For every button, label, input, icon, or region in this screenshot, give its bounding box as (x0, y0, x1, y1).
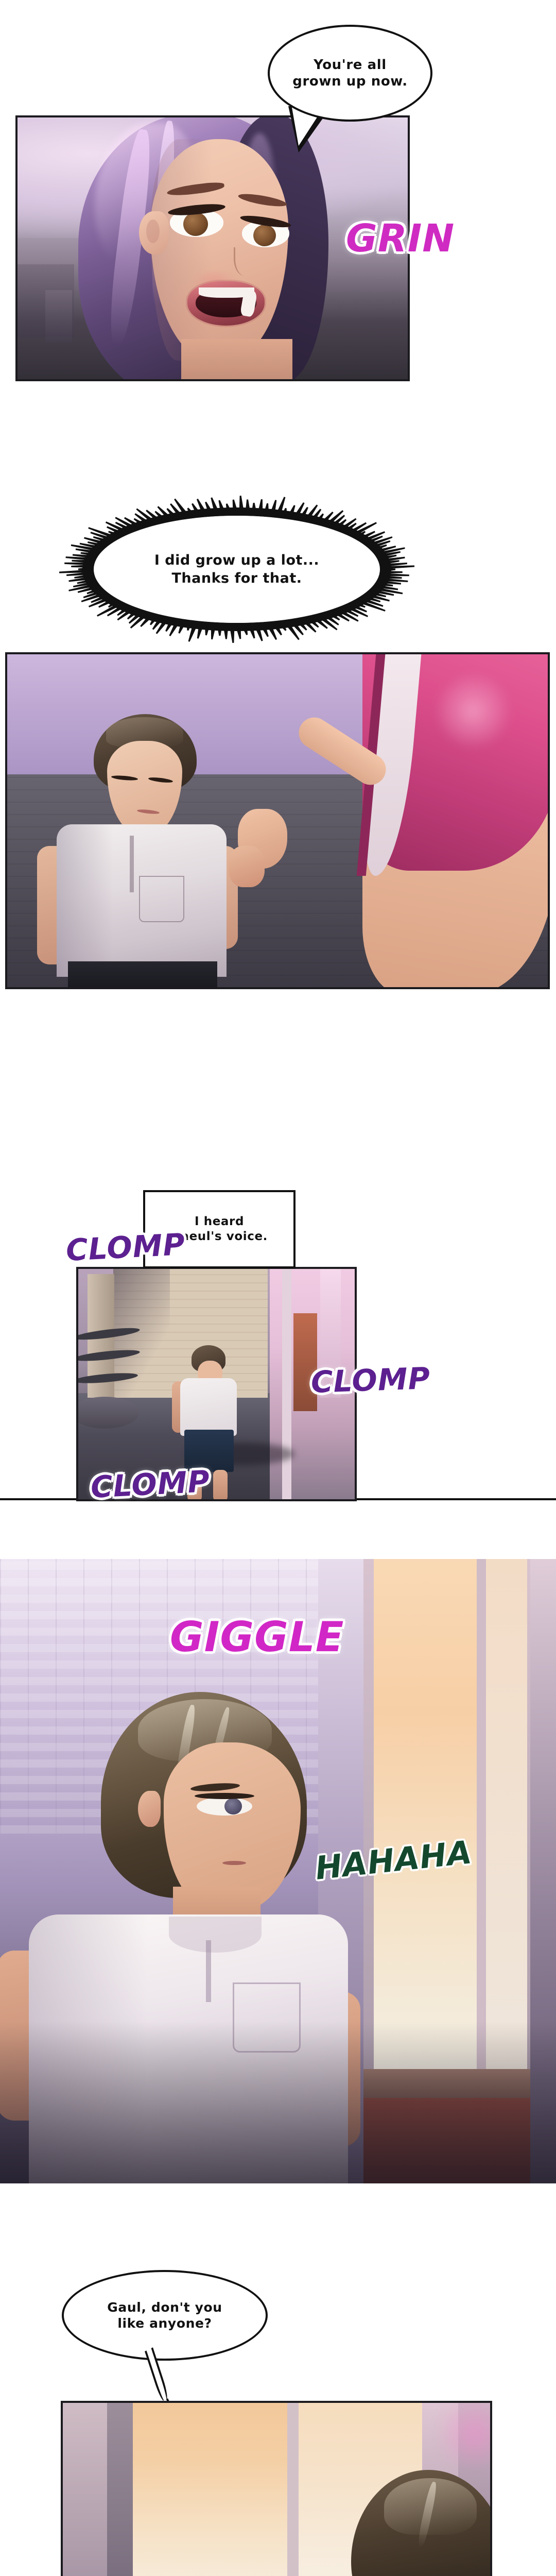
boy4-ear (138, 1791, 161, 1827)
window-glass-left (374, 1559, 477, 2069)
sfx-clomp-3: CLOMP (90, 1466, 211, 1502)
sfx-clomp-2: CLOMP (310, 1363, 431, 1397)
boy-pants (68, 961, 217, 989)
woman-neck (181, 339, 292, 381)
speech-bubble-4-text: Gaul, don't you like anyone? (107, 2299, 222, 2332)
thought-bubble-2: I did grow up a lot... Thanks for that. (95, 516, 378, 623)
speech-bubble-1-text: You're all grown up now. (292, 57, 407, 90)
boy-shirt-placket (130, 836, 134, 892)
boy-hand (229, 846, 265, 887)
sfx-giggle: GIGGLE (170, 1617, 344, 1658)
window-mullion (477, 1559, 486, 2069)
panel4-bottom-shadow (0, 2021, 556, 2183)
woman-shorts-highlight (435, 670, 512, 752)
boy3-leg-right (213, 1470, 228, 1501)
window5-frame-left-inner (107, 2403, 133, 2576)
window5-pane-left (133, 2403, 287, 2576)
speech-bubble-1: You're all grown up now. (268, 25, 432, 122)
comic-page: GRIN You're all grown up now. (0, 0, 556, 2576)
panel-5 (61, 2401, 492, 2576)
thought-bubble-2-wrapper: I did grow up a lot... Thanks for that. (59, 492, 414, 647)
panel-2 (5, 652, 550, 989)
boy4-mouth (222, 1861, 246, 1865)
doorway-frame (282, 1269, 291, 1499)
boy4-collar (169, 1917, 262, 1953)
woman-ear-inner (146, 219, 160, 243)
window5-frame-left (63, 2403, 107, 2576)
boy4-shirt-placket (206, 1940, 211, 2002)
boy4-eye (197, 1797, 252, 1816)
speech-bubble-4: Gaul, don't you like anyone? (62, 2270, 268, 2361)
boy-shirt-pocket (139, 876, 184, 922)
window-glass-right (486, 1559, 527, 2069)
woman-iris-right (253, 225, 276, 246)
boy-shirt-shadow (57, 824, 113, 977)
city-building-left-2 (45, 290, 72, 343)
boy3-shirt (180, 1378, 237, 1436)
sfx-grin: GRIN (346, 219, 455, 258)
woman-iris-left (183, 212, 208, 236)
window5-mullion (287, 2403, 299, 2576)
sfx-clomp-1: CLOMP (65, 1229, 186, 1265)
thought-bubble-2-text: I did grow up a lot... Thanks for that. (154, 551, 319, 587)
caption-box-3-text: I heard Gaeul's voice. (171, 1214, 268, 1244)
boy4-eyelid (195, 1793, 254, 1799)
boy4-iris (224, 1798, 242, 1815)
